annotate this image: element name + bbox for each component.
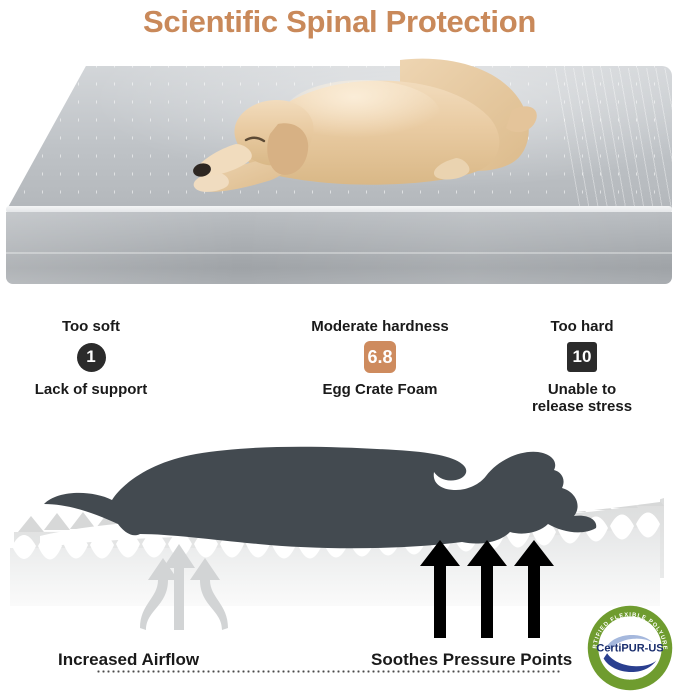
scale-dotted-line bbox=[96, 670, 560, 673]
scale-badge-wrap: 1 bbox=[1, 340, 181, 374]
scale-badge-wrap: 10 bbox=[492, 340, 672, 374]
scale-stop-too-hard: Too hard 10 Unable to release stress bbox=[492, 318, 672, 415]
scale-stop-sublabel: Lack of support bbox=[1, 381, 181, 398]
scale-stop-too-soft: Too soft 1 Lack of support bbox=[1, 318, 181, 398]
hero-product-photo bbox=[0, 52, 679, 287]
sleeping-dog-photo bbox=[150, 52, 540, 212]
certipur-wordmark: CertiPUR-US bbox=[596, 643, 663, 655]
page-title: Scientific Spinal Protection bbox=[0, 2, 679, 42]
airflow-label: Increased Airflow bbox=[58, 650, 199, 670]
scale-stop-caption: Too hard bbox=[492, 318, 672, 335]
hardness-scale: Too soft 1 Lack of support Moderate hard… bbox=[0, 312, 679, 422]
scale-stop-moderate: Moderate hardness 6.8 Egg Crate Foam bbox=[290, 318, 470, 398]
product-infographic: Scientific Spinal Protection bbox=[0, 0, 679, 696]
pressure-arrows bbox=[420, 540, 554, 638]
scale-value-badge-68: 6.8 bbox=[364, 341, 396, 373]
pressure-points-label: Soothes Pressure Points bbox=[371, 650, 572, 670]
certipur-us-badge: CONTAINS CERTIFIED FLEXIBLE POLYURETHANE… bbox=[586, 604, 674, 692]
foam-cross-section-diagram bbox=[0, 428, 679, 638]
scale-value-badge-10: 10 bbox=[567, 342, 597, 372]
scale-stop-caption: Moderate hardness bbox=[290, 318, 470, 335]
scale-stop-caption: Too soft bbox=[1, 318, 181, 335]
scale-stop-sublabel: Egg Crate Foam bbox=[290, 381, 470, 398]
mattress-side-sheen bbox=[6, 212, 672, 284]
scale-value-badge-1: 1 bbox=[77, 343, 106, 372]
scale-stop-sublabel-line1: Unable to bbox=[492, 381, 672, 398]
scale-stop-sublabel-line2: release stress bbox=[492, 398, 672, 415]
scale-badge-wrap: 6.8 bbox=[290, 340, 470, 374]
